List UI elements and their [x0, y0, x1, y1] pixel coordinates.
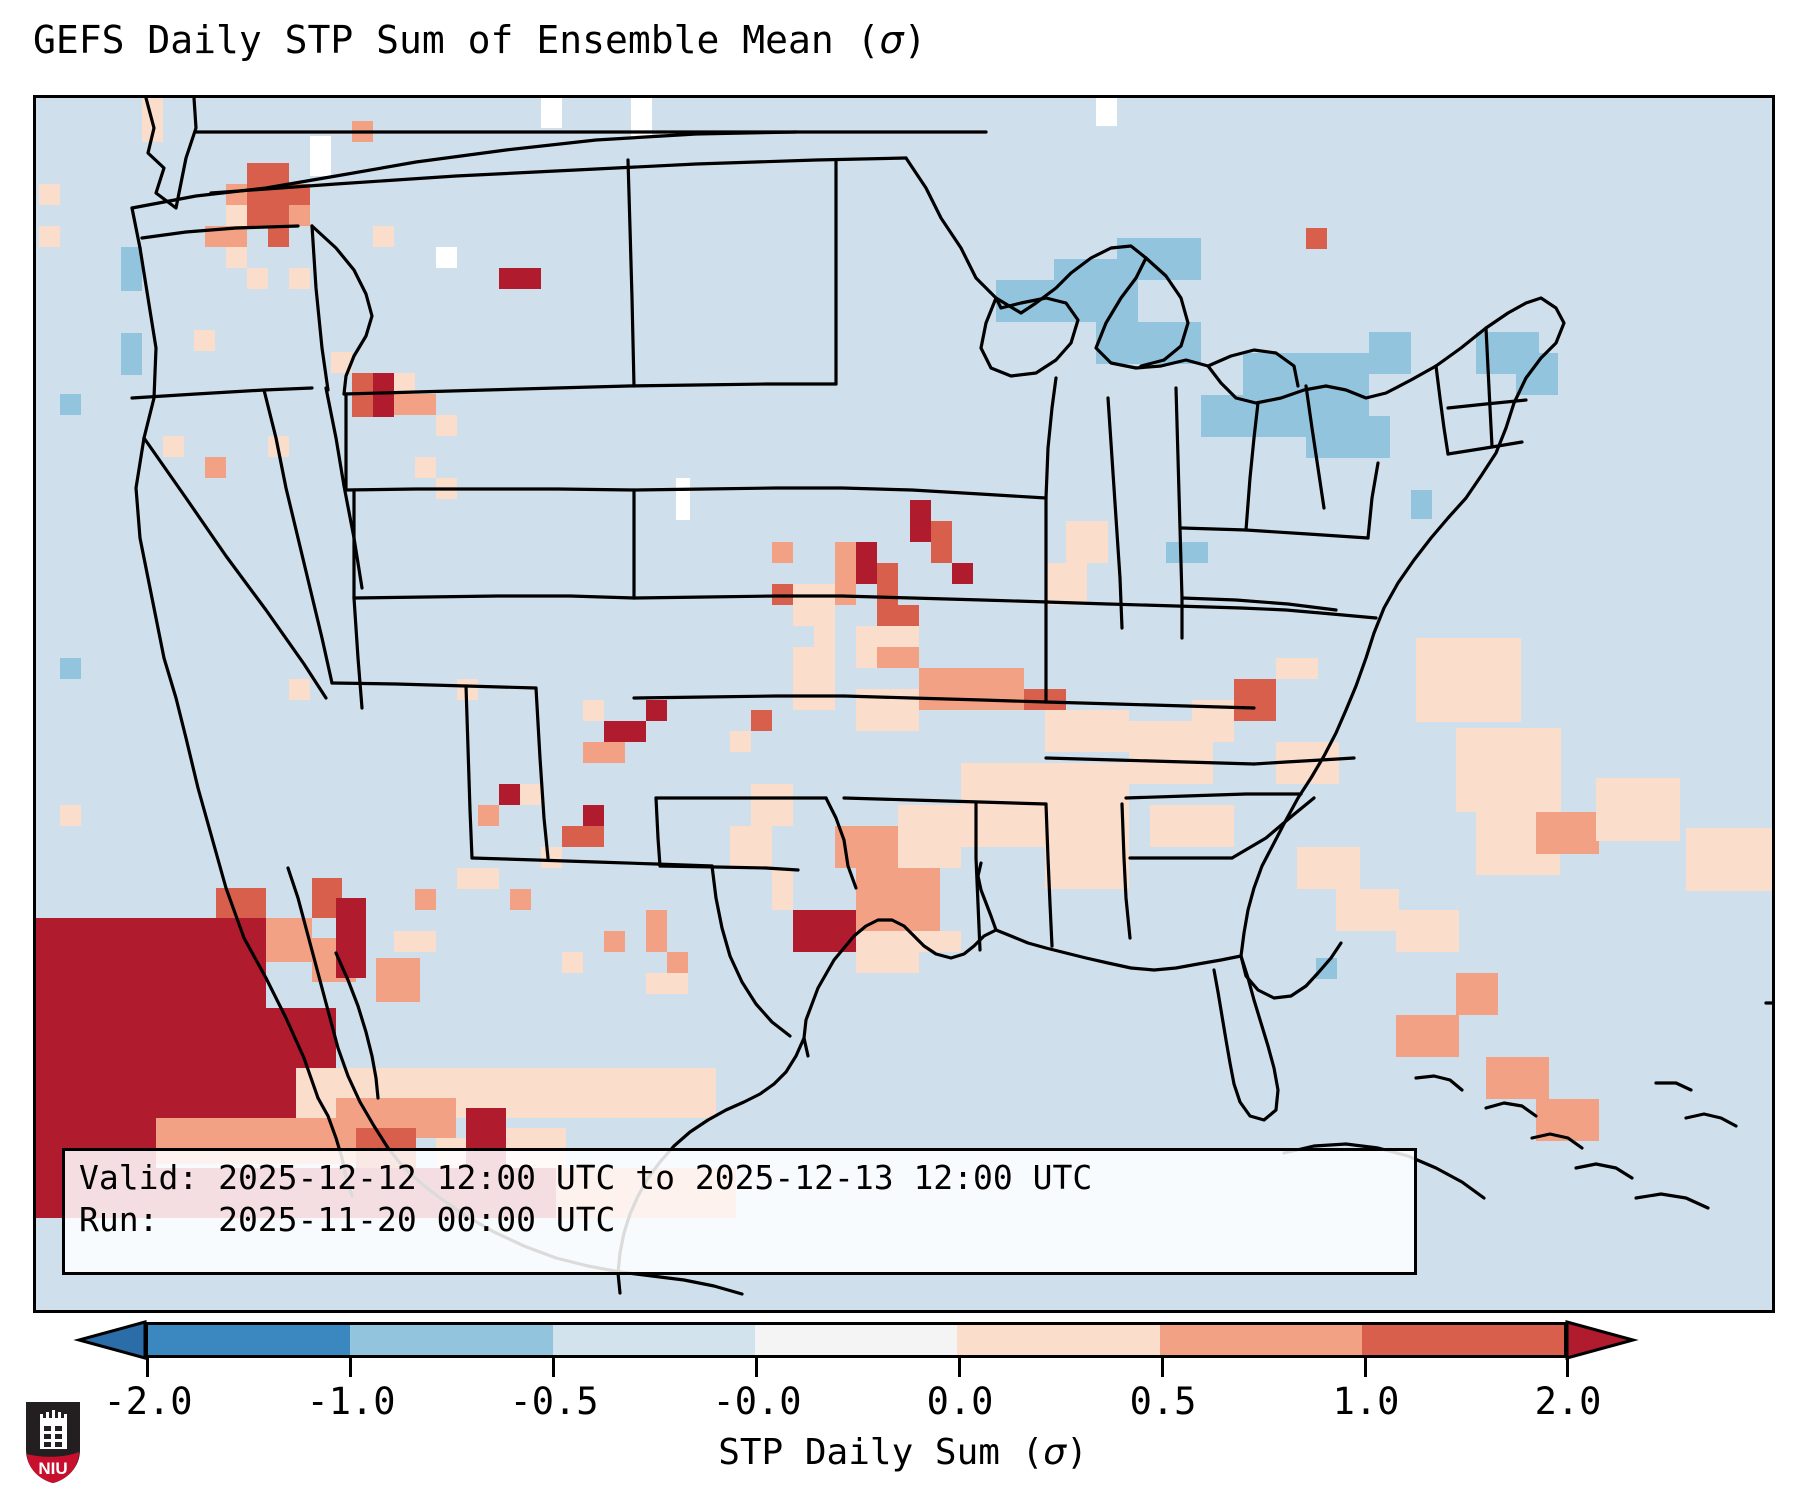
- valid-line: Valid: 2025-12-12 12:00 UTC to 2025-12-1…: [79, 1158, 1092, 1197]
- niu-logo-text: NIU: [38, 1459, 67, 1478]
- colorbar-tick: [1566, 1358, 1569, 1377]
- colorbar-tick: [958, 1358, 961, 1377]
- colorbar-band-0[interactable]: [148, 1325, 350, 1355]
- colorbar-band-6[interactable]: [1362, 1325, 1564, 1355]
- valid-run-annotation: Valid: 2025-12-12 12:00 UTC to 2025-12-1…: [62, 1148, 1417, 1275]
- colorbar-tick-label: -1.0: [306, 1380, 395, 1423]
- colorbar-tick-label: -0.0: [712, 1380, 801, 1423]
- colorbar-tick: [349, 1358, 352, 1377]
- colorbar-band-1[interactable]: [350, 1325, 552, 1355]
- page-title-text: GEFS Daily STP Sum of Ensemble Mean (: [33, 18, 879, 62]
- colorbar[interactable]: -2.0 -1.0 -0.5 -0.0 0.0 0.5 1.0 2.0: [33, 1322, 1773, 1366]
- colorbar-axis-label-text: STP Daily Sum (: [718, 1432, 1043, 1473]
- colorbar-band-2[interactable]: [553, 1325, 755, 1355]
- colorbar-bands[interactable]: [145, 1322, 1567, 1358]
- colorbar-tick-labels: -2.0 -1.0 -0.5 -0.0 0.0 0.5 1.0 2.0: [33, 1380, 1773, 1430]
- sigma-symbol: σ: [879, 18, 903, 62]
- colorbar-tick: [552, 1358, 555, 1377]
- colorbar-ticks: [33, 1358, 1773, 1378]
- run-line: Run: 2025-11-20 00:00 UTC: [79, 1200, 615, 1239]
- colorbar-axis-paren-close: ): [1066, 1432, 1088, 1473]
- niu-logo: NIU: [22, 1398, 84, 1486]
- colorbar-band-3[interactable]: [755, 1325, 957, 1355]
- colorbar-band-4[interactable]: [957, 1325, 1159, 1355]
- colorbar-tick-label: -0.5: [509, 1380, 598, 1423]
- colorbar-tick: [146, 1358, 149, 1377]
- title-paren-close: ): [904, 18, 927, 62]
- map-panel[interactable]: [33, 95, 1775, 1313]
- page-title: GEFS Daily STP Sum of Ensemble Mean (σ): [33, 18, 1773, 62]
- colorbar-tick: [1364, 1358, 1367, 1377]
- colorbar-tick: [1161, 1358, 1164, 1377]
- stp-anomaly-heatmap: [36, 98, 1772, 1310]
- colorbar-tick-label: -2.0: [103, 1380, 192, 1423]
- colorbar-axis-label: STP Daily Sum (σ): [33, 1432, 1773, 1473]
- colorbar-tick-label: 0.0: [927, 1380, 994, 1423]
- sigma-symbol: σ: [1043, 1432, 1066, 1473]
- colorbar-band-5[interactable]: [1160, 1325, 1362, 1355]
- colorbar-tick-label: 2.0: [1535, 1380, 1602, 1423]
- colorbar-tick: [755, 1358, 758, 1377]
- colorbar-tick-label: 0.5: [1130, 1380, 1197, 1423]
- colorbar-tick-label: 1.0: [1333, 1380, 1400, 1423]
